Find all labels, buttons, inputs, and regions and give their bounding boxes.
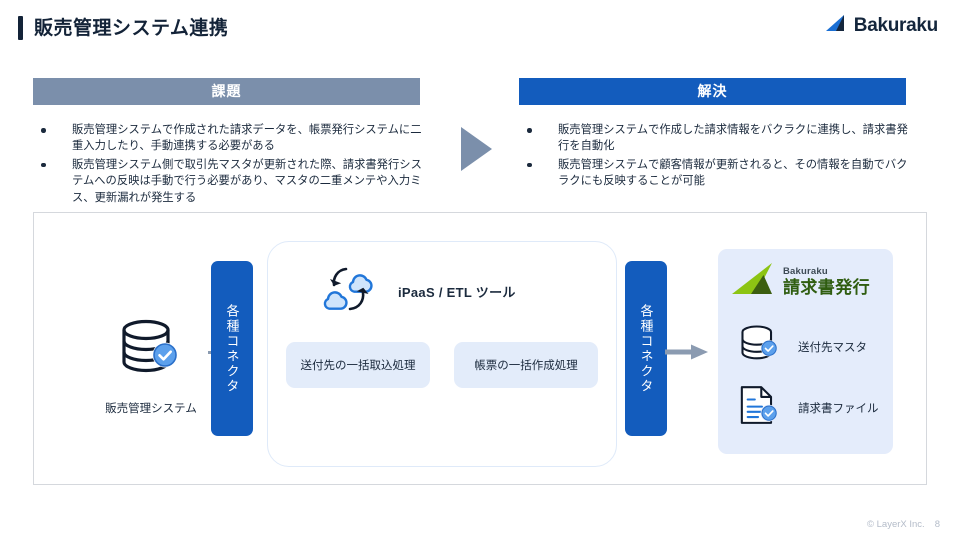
bakuraku-wordmark: Bakuraku	[783, 267, 870, 277]
database-check-icon	[736, 321, 784, 372]
copyright-text: © LayerX Inc.	[867, 519, 925, 530]
list-item: 販売管理システム側で取引先マスタが更新された際、請求書発行システムへの反映は手動…	[36, 157, 428, 206]
page-title: 販売管理システム連携	[34, 13, 228, 40]
bakuraku-item-label: 送付先マスタ	[798, 339, 867, 355]
triangle-right-icon	[461, 127, 492, 171]
bakuraku-item-invoice-file: 請求書ファイル	[736, 382, 879, 433]
connector-right: 各種コネクタ	[625, 261, 667, 436]
process-box: 帳票の一括作成処理	[454, 342, 598, 388]
slide-header: 販売管理システム連携 Bakuraku	[0, 0, 960, 55]
brand-name: Bakuraku	[854, 15, 938, 37]
bakuraku-item-label: 請求書ファイル	[798, 400, 879, 416]
connector-left: 各種コネクタ	[211, 261, 253, 436]
title-accent-bar	[18, 16, 23, 40]
brand-logo: Bakuraku	[826, 15, 938, 37]
ipaas-header: iPaaS / ETL ツール	[320, 264, 516, 319]
page-number: 8	[935, 519, 940, 530]
solution-bullet-list: 販売管理システムで作成した請求情報をバクラクに連携し、請求書発行を自動化 販売管…	[522, 122, 914, 192]
connector-left-label: 各種コネクタ	[223, 304, 242, 394]
ipaas-panel: iPaaS / ETL ツール 送付先の一括取込処理 帳票の一括作成処理	[267, 241, 617, 467]
footer: © LayerX Inc. 8	[867, 519, 940, 530]
arrow-right-icon	[665, 344, 709, 360]
database-check-icon	[114, 374, 188, 391]
ipaas-title: iPaaS / ETL ツール	[398, 282, 516, 301]
process-box: 送付先の一括取込処理	[286, 342, 430, 388]
cloud-sync-icon	[320, 264, 382, 319]
connector-right-label: 各種コネクタ	[637, 304, 656, 394]
bakuraku-triangle-mark-icon	[826, 15, 848, 37]
bakuraku-invoice-logo-text: Bakuraku 請求書発行	[783, 267, 870, 296]
source-system-node: 販売管理システム	[76, 313, 226, 416]
list-item: 販売管理システムで作成された請求データを、帳票発行システムに二重入力したり、手動…	[36, 122, 428, 155]
bakuraku-item-recipient-master: 送付先マスタ	[736, 321, 867, 372]
list-item: 販売管理システムで顧客情報が更新されると、その情報を自動でバクラクにも反映するこ…	[522, 157, 914, 190]
solution-banner: 解決	[519, 78, 906, 105]
bakuraku-invoice-panel: Bakuraku 請求書発行	[718, 249, 893, 454]
bakuraku-invoice-logo: Bakuraku 請求書発行	[732, 263, 870, 300]
source-system-label: 販売管理システム	[76, 400, 226, 416]
bakuraku-green-triangle-mark-icon	[732, 263, 778, 300]
issue-banner: 課題	[33, 78, 420, 105]
ipaas-process-row: 送付先の一括取込処理 帳票の一括作成処理	[286, 342, 598, 388]
list-item: 販売管理システムで作成した請求情報をバクラクに連携し、請求書発行を自動化	[522, 122, 914, 155]
issue-bullet-list: 販売管理システムで作成された請求データを、帳票発行システムに二重入力したり、手動…	[36, 122, 428, 208]
document-check-icon	[736, 382, 784, 433]
bakuraku-product-name: 請求書発行	[783, 279, 870, 296]
architecture-diagram: 販売管理システム 各種コネクタ	[33, 212, 927, 485]
